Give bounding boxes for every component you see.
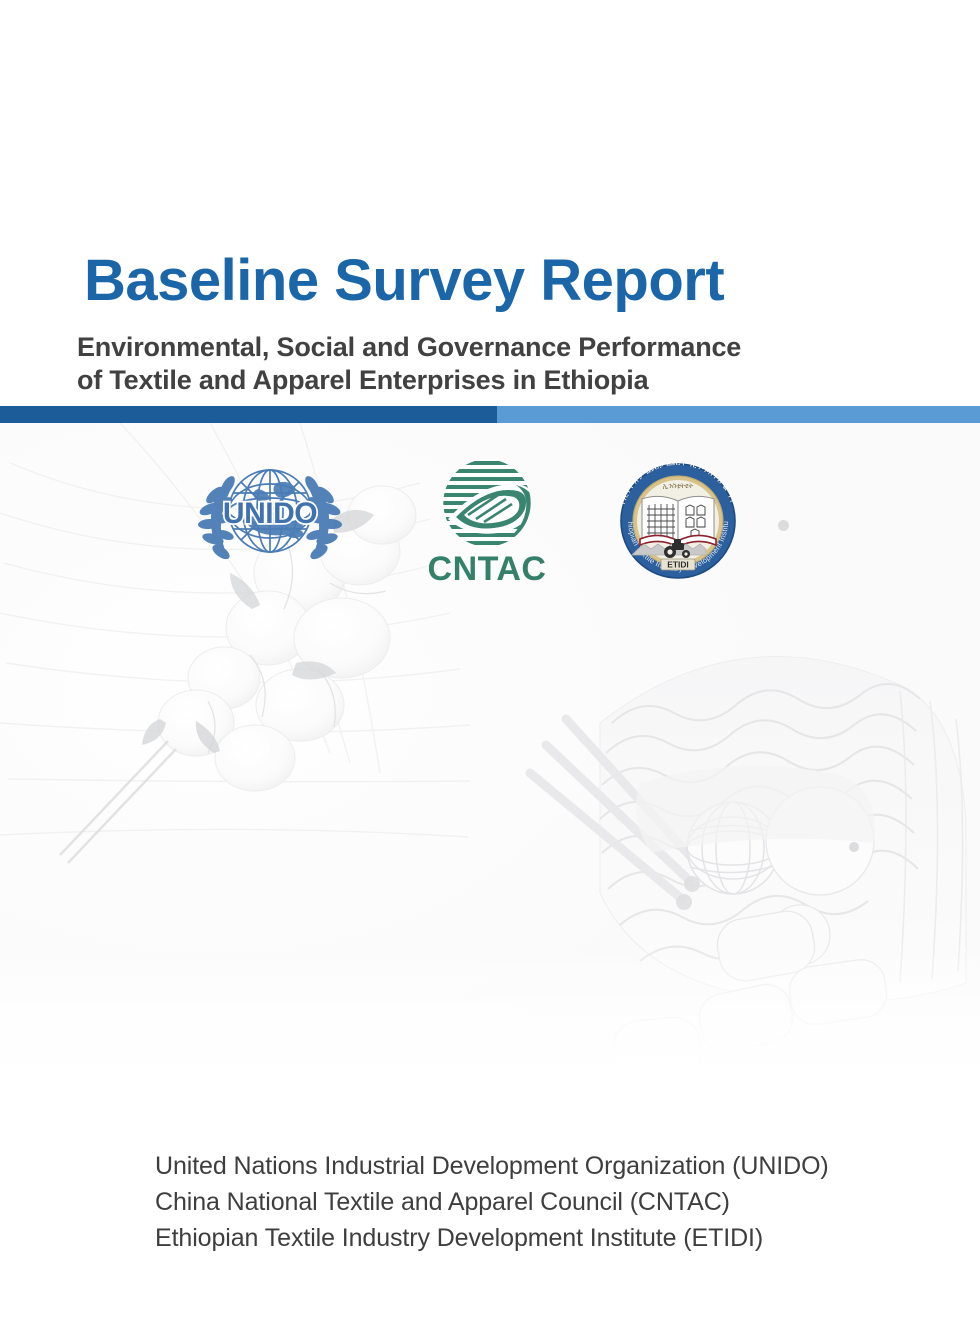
etidi-logo: የኢትዮጵያ ጨርቃጨርቅ ኢንዱስትሪ ልማት Ethiopian Texti… [604, 455, 752, 588]
organization-list: United Nations Industrial Development Or… [155, 1148, 829, 1256]
divider-segment-dark [0, 406, 497, 423]
page-title: Baseline Survey Report [84, 249, 724, 313]
stray-dot [778, 520, 789, 531]
etidi-wordmark: ETIDI [667, 560, 688, 570]
unido-logo: UNIDO [190, 455, 350, 580]
unido-wordmark: UNIDO [223, 497, 317, 530]
cntac-wordmark: CNTAC [412, 550, 562, 589]
report-cover-page: Baseline Survey Report Environmental, So… [0, 0, 980, 1322]
page-subtitle-line-2: of Textile and Apparel Enterprises in Et… [77, 364, 741, 397]
photo-bottom-fade [0, 941, 980, 1111]
etidi-inner-caption: ኢንስቲትዩት [663, 483, 694, 490]
page-subtitle-line-1: Environmental, Social and Governance Per… [77, 331, 741, 364]
cntac-logo [412, 455, 562, 560]
title-block: Baseline Survey Report Environmental, So… [0, 0, 980, 406]
divider [0, 406, 980, 423]
organization-item: Ethiopian Textile Industry Development I… [155, 1220, 829, 1256]
organization-item: China National Textile and Apparel Counc… [155, 1184, 829, 1220]
page-subtitle: Environmental, Social and Governance Per… [77, 331, 741, 397]
organization-item: United Nations Industrial Development Or… [155, 1148, 829, 1184]
etidi-plate: ETIDI [661, 559, 695, 570]
logo-row: UNIDO [0, 455, 980, 600]
divider-segment-light [497, 406, 980, 423]
